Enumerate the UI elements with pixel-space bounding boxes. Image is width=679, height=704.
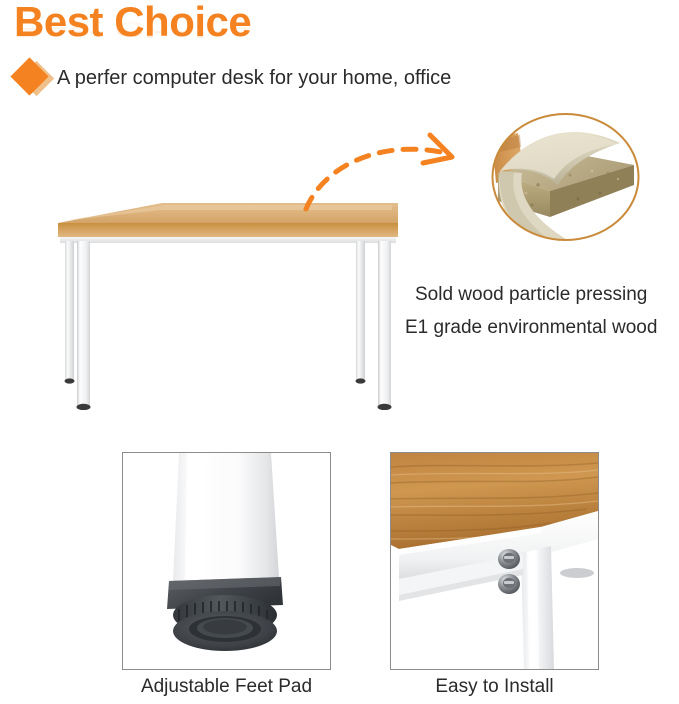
orange-diamond-icon (10, 57, 48, 95)
material-spec-text: Sold wood particle pressing E1 grade env… (405, 278, 679, 344)
caption-adjustable-feet-pad: Adjustable Feet Pad (122, 676, 331, 698)
spec-line-1: Sold wood particle pressing (405, 278, 679, 311)
header-title-block: Best Choice Best Choice (14, 0, 414, 58)
page-subtitle: A perfer computer desk for your home, of… (57, 67, 451, 90)
page-title: Best Choice (14, 0, 414, 46)
feature-photo-easy-to-install (390, 452, 599, 670)
subtitle-row: A perfer computer desk for your home, of… (10, 58, 451, 98)
particle-board-callout (492, 113, 639, 241)
caption-easy-to-install: Easy to Install (390, 676, 599, 698)
infographic-canvas: Best Choice Best Choice A perfer compute… (0, 0, 679, 704)
feature-photo-adjustable-feet-pad (122, 452, 331, 670)
spec-line-2: E1 grade environmental wood (405, 311, 679, 344)
